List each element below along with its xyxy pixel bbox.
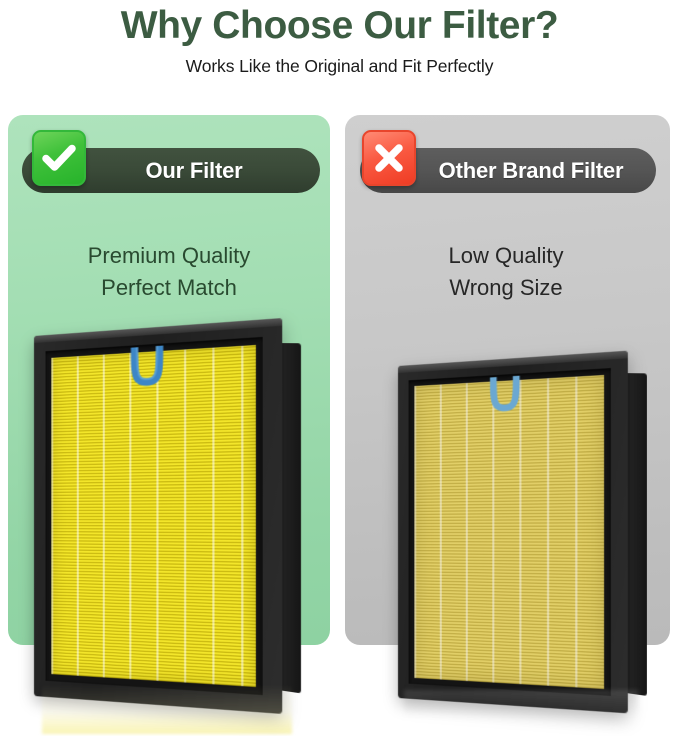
infographic-page: Why Choose Our Filter? Works Like the Or…: [0, 0, 679, 736]
features-other-brand-filter: Low Quality Wrong Size: [345, 240, 667, 304]
feature-item: Perfect Match: [8, 272, 330, 303]
header: Why Choose Our Filter? Works Like the Or…: [0, 0, 679, 77]
filter-pull-handle-icon: [128, 345, 168, 391]
feature-item: Wrong Size: [345, 272, 667, 303]
filter-pull-handle-icon: [485, 375, 525, 421]
air-filter-product-our: [34, 336, 302, 696]
features-our-filter: Premium Quality Perfect Match: [8, 240, 330, 304]
filter-pleated-media: [414, 375, 604, 689]
filter-frame: [34, 318, 282, 714]
feature-item: Premium Quality: [8, 240, 330, 271]
feature-item: Low Quality: [345, 240, 667, 271]
page-subtitle: Works Like the Original and Fit Perfectl…: [0, 56, 679, 77]
x-icon: [362, 130, 416, 186]
filter-reflection-our: [42, 684, 292, 734]
page-title: Why Choose Our Filter?: [0, 4, 679, 49]
filter-reflection-other: [404, 690, 638, 716]
filter-frame: [398, 351, 628, 714]
filter-pleated-media: [51, 345, 256, 687]
air-filter-product-other: [398, 366, 648, 698]
check-icon: [32, 130, 86, 186]
